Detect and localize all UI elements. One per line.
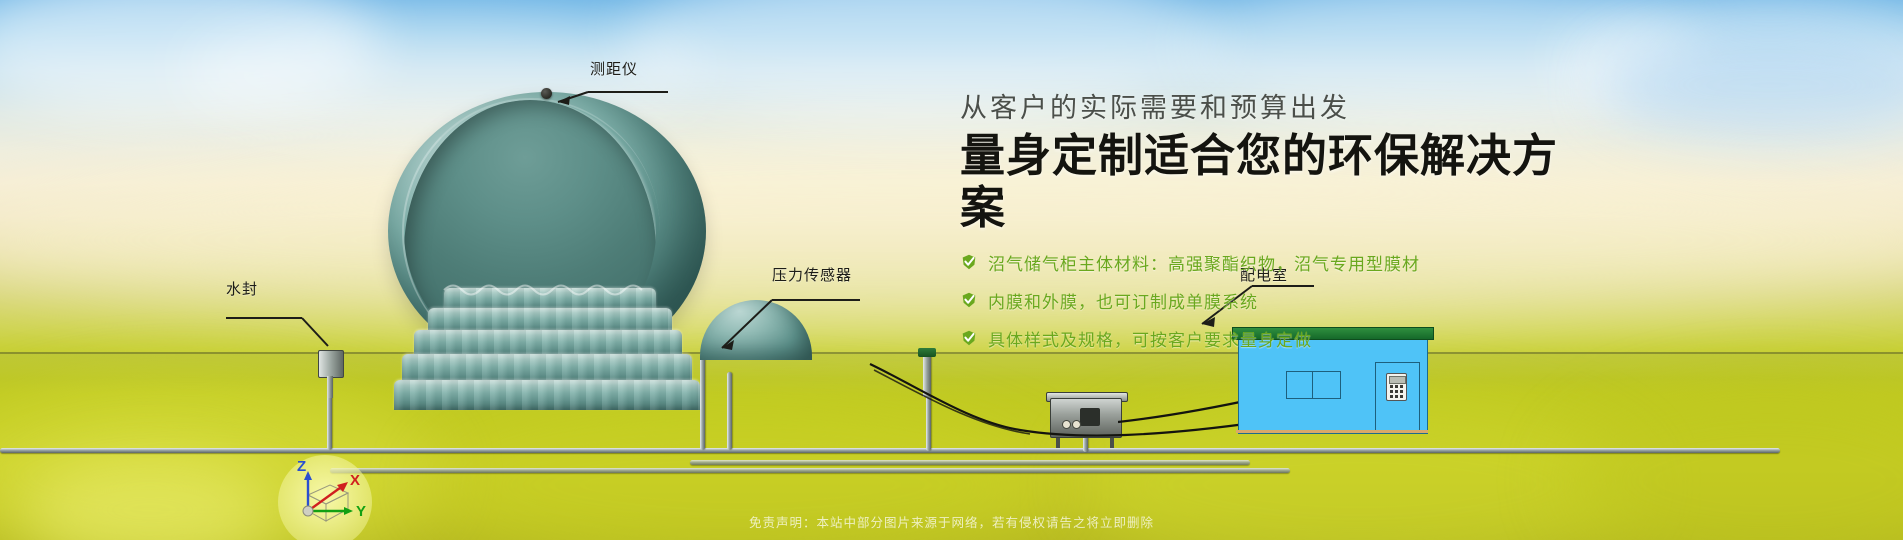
rangefinder-device xyxy=(541,88,552,99)
label-rangefinder: 测距仪 xyxy=(590,62,638,77)
secondary-dome xyxy=(700,300,812,360)
pressure-sensor-tube xyxy=(923,357,931,397)
blower-leg xyxy=(1110,438,1114,448)
cloud-shape xyxy=(1600,30,1903,140)
control-panel-button xyxy=(1400,390,1403,393)
check-badge-icon xyxy=(960,329,978,347)
check-badge-icon xyxy=(960,291,978,309)
feature-text: 具体样式及规格，可按客户要求量身定做 xyxy=(988,326,1312,351)
label-pressure-sensor: 压力传感器 xyxy=(772,268,852,283)
blower-leg xyxy=(1056,438,1060,448)
leader-line-water-seal xyxy=(224,296,344,356)
inner-membrane-step xyxy=(394,380,700,410)
blower-motor xyxy=(1080,408,1100,426)
axis-label-x: X xyxy=(350,472,360,489)
feature-item: 内膜和外膜，也可订制成单膜系统 xyxy=(960,288,1600,313)
promo-subtitle: 从客户的实际需要和预算出发 xyxy=(960,92,1600,124)
control-panel-button xyxy=(1390,395,1393,398)
label-water-seal: 水封 xyxy=(226,282,258,297)
water-seal-stem xyxy=(327,376,333,398)
promo-banner: 测距仪 水封 压力传感器 配电室 xyxy=(0,0,1903,540)
control-panel-button xyxy=(1400,395,1403,398)
feature-list: 沼气储气柜主体材料：高强聚酯织物，沼气专用型膜材 内膜和外膜，也可订制成单膜系统 xyxy=(960,250,1600,351)
control-panel xyxy=(1386,373,1407,401)
check-badge-icon xyxy=(960,253,978,271)
feature-item: 具体样式及规格，可按客户要求量身定做 xyxy=(960,326,1600,351)
axis-label-z: Z xyxy=(297,458,306,475)
blower-gauge xyxy=(1072,420,1081,429)
pressure-sensor-unit xyxy=(918,348,936,396)
blower-skid xyxy=(1050,398,1122,438)
promo-headline: 量身定制适合您的环保解决方案 xyxy=(960,130,1600,234)
ground-pipe-secondary xyxy=(330,468,1290,473)
ground-haze xyxy=(0,354,1903,394)
ground-pipe-upper xyxy=(690,460,1250,465)
control-panel-button xyxy=(1395,395,1398,398)
membrane-corrugation xyxy=(394,380,700,410)
control-panel-button xyxy=(1400,385,1403,388)
feature-text: 内膜和外膜，也可订制成单膜系统 xyxy=(988,288,1258,313)
disclaimer-text: 免责声明：本站中部分图片来源于网络，若有侵权请告之将立即删除 xyxy=(0,512,1903,531)
riser-pipe-blower xyxy=(1083,436,1088,452)
gas-holder-dome xyxy=(388,92,706,370)
promo-text-block: 从客户的实际需要和预算出发 量身定制适合您的环保解决方案 沼气储气柜主体材料：高… xyxy=(960,92,1600,364)
building-base xyxy=(1236,430,1428,433)
ground-pipe-main xyxy=(0,448,1780,453)
building-window xyxy=(1312,371,1341,399)
control-panel-button xyxy=(1390,390,1393,393)
control-panel-button xyxy=(1395,390,1398,393)
riser-pipe-dome-b xyxy=(727,372,732,450)
blower-gauge xyxy=(1062,420,1071,429)
feature-item: 沼气储气柜主体材料：高强聚酯织物，沼气专用型膜材 xyxy=(960,250,1600,275)
cloud-shape xyxy=(0,0,380,120)
control-panel-screen xyxy=(1389,376,1406,384)
water-seal-unit xyxy=(318,350,342,390)
feature-text: 沼气储气柜主体材料：高强聚酯织物，沼气专用型膜材 xyxy=(988,250,1420,275)
cloud-shape xyxy=(1560,0,1903,140)
water-seal-tank xyxy=(318,350,344,378)
control-panel-button xyxy=(1390,385,1393,388)
building-window xyxy=(1286,371,1315,399)
control-panel-button xyxy=(1395,385,1398,388)
pressure-sensor-cap xyxy=(918,348,936,357)
haze-band xyxy=(0,150,1903,330)
